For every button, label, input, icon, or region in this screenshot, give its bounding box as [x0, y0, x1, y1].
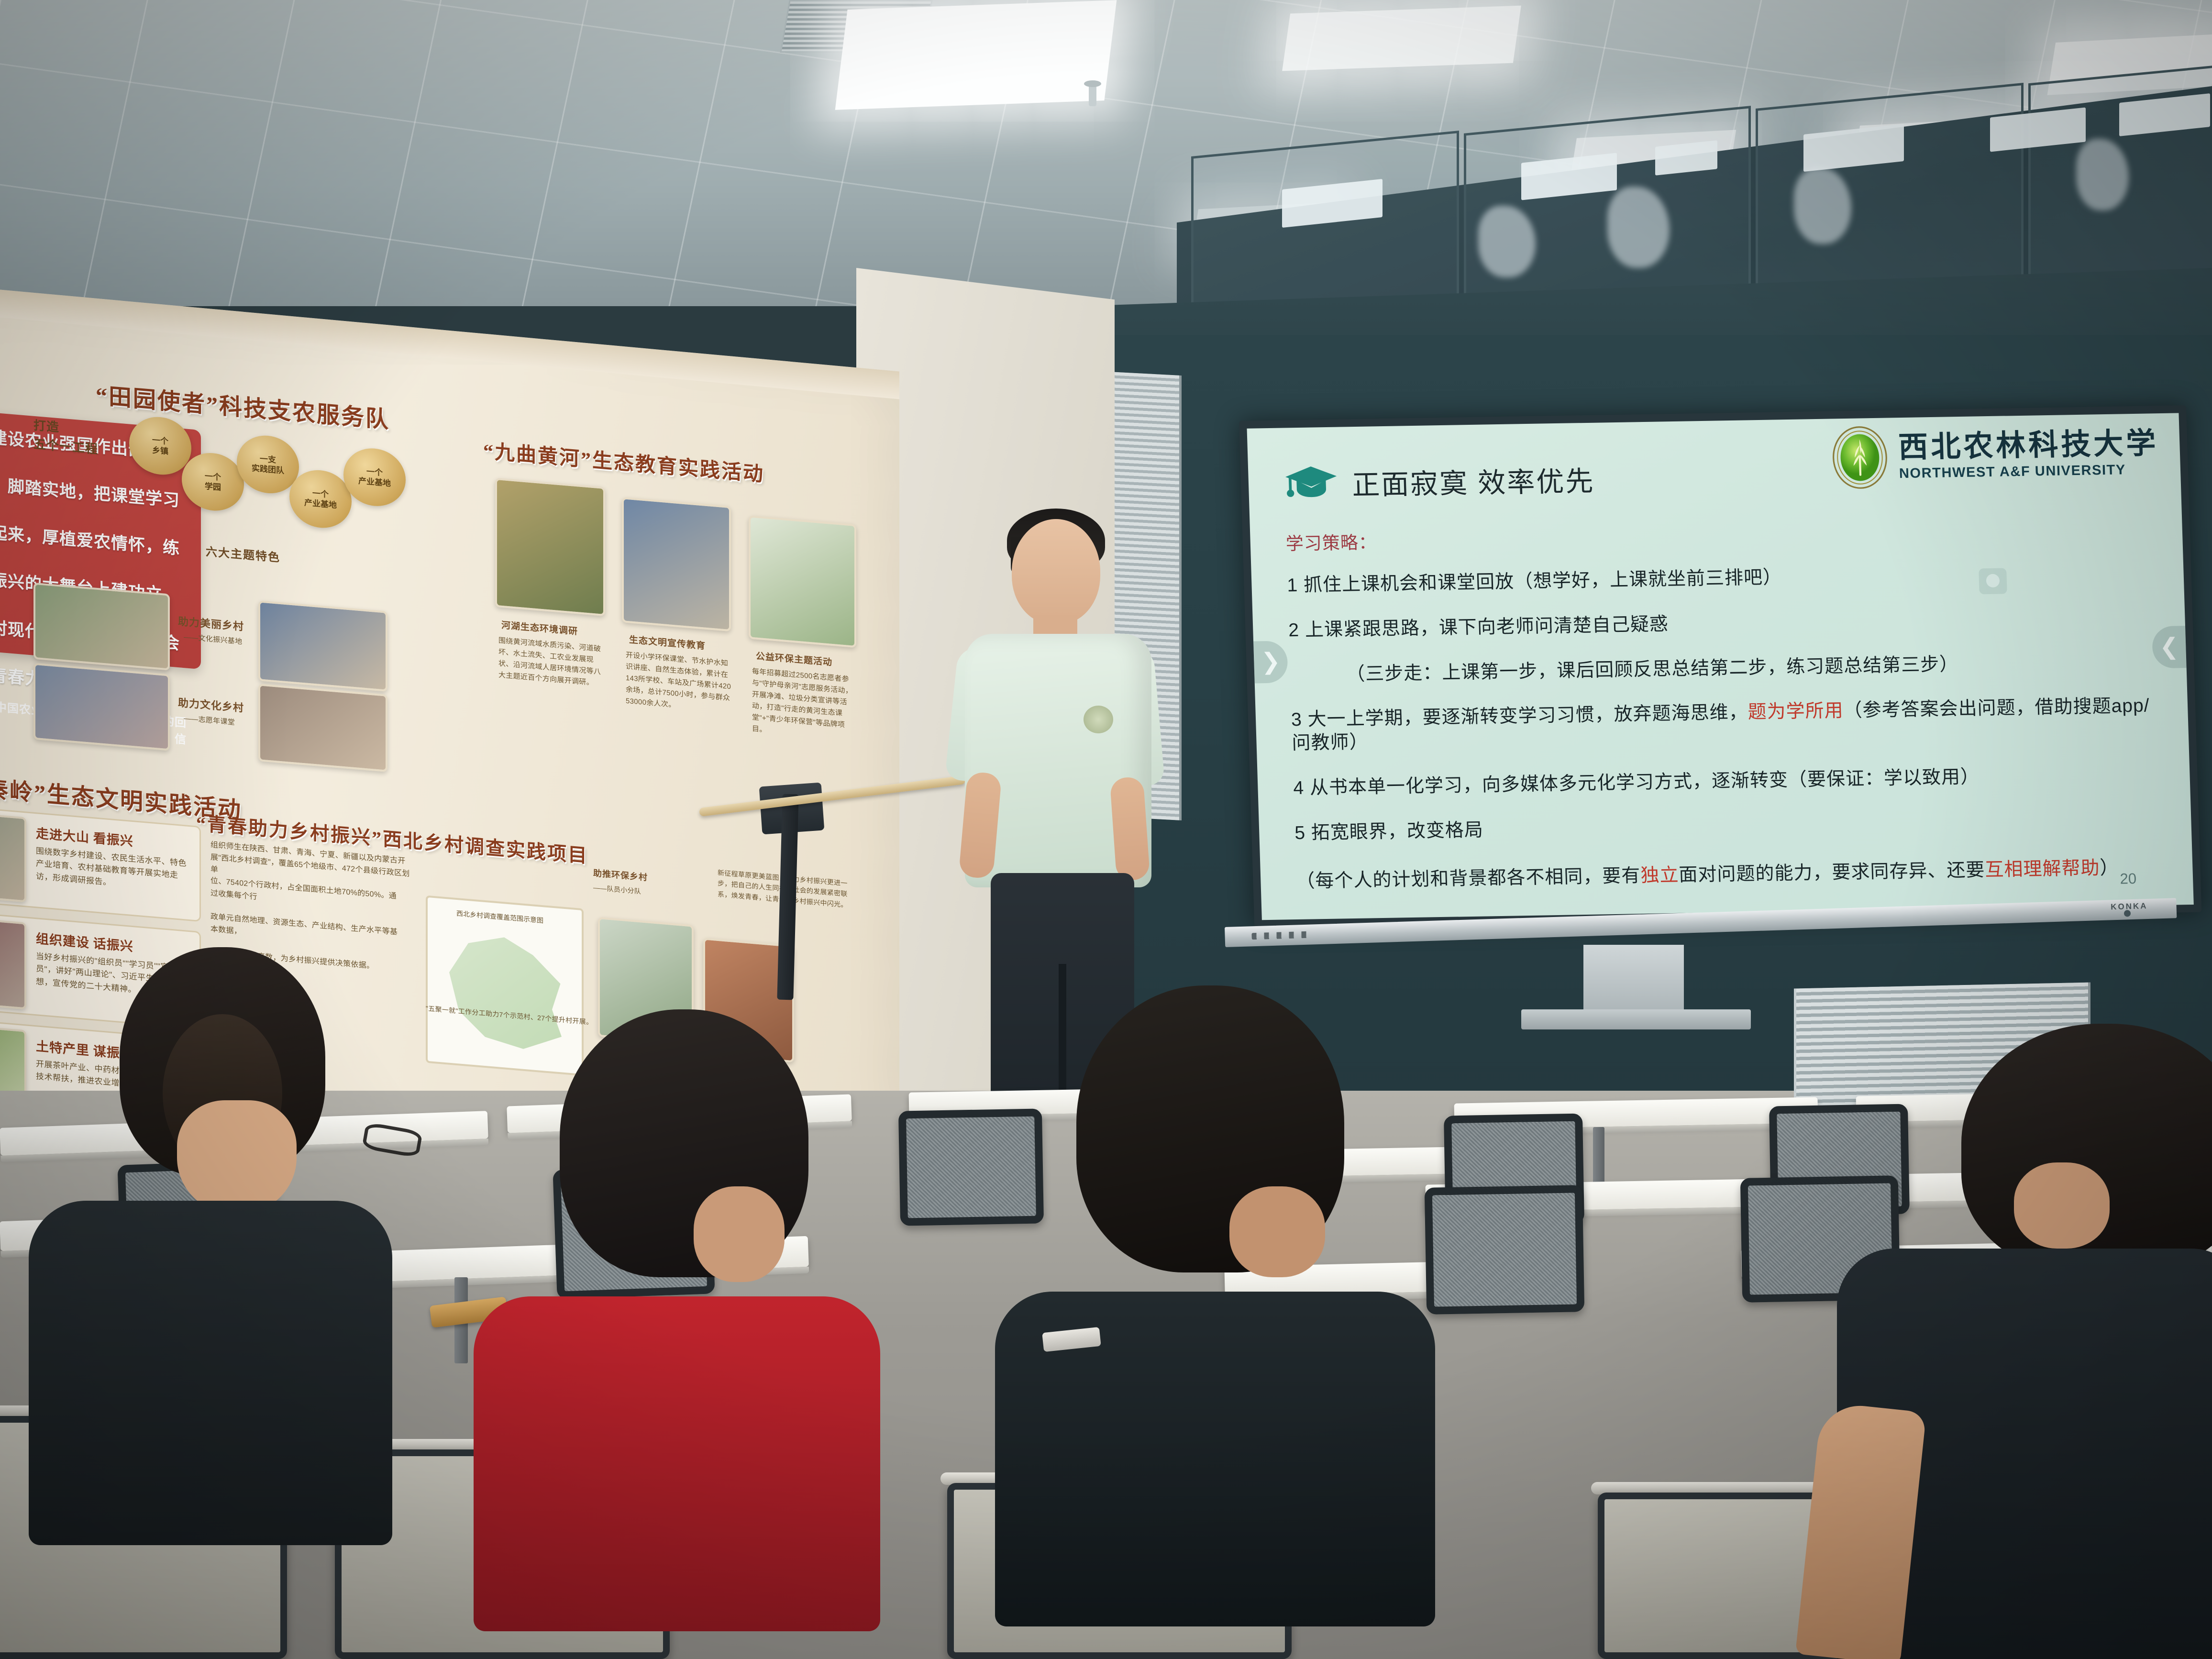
slide-watermark-icon	[1979, 568, 2007, 594]
student-face	[177, 1100, 297, 1215]
right-block-sub: ——队员小分队	[593, 882, 641, 897]
presenter-shirt-graphic	[1084, 706, 1113, 733]
presenter-arm-right	[1110, 776, 1150, 881]
slide-line-7-part-c: ）	[2100, 858, 2119, 879]
slide-line-7-highlight-2: 互相理解帮助	[1985, 858, 2100, 880]
exhibit-photo	[33, 663, 170, 751]
badge-top: 一个	[312, 488, 329, 499]
smart-display-screen[interactable]: 西北农林科技大学 NORTHWEST A&F UNIVERSITY 正面寂寞 效…	[1239, 405, 2201, 928]
slide-line-4-part-a: 3 大一上学期，要逐渐转变学习习惯，放弃题海思维，	[1291, 702, 1748, 730]
exhibit-caption-head: 助力文化乡村	[178, 694, 244, 715]
slide-line-1: 1 抓住上课机会和课堂回放（想学好，上课就坐前三排吧）	[1287, 560, 2161, 597]
university-name-cn: 西北农林科技大学	[1898, 429, 2159, 463]
badge-top: 一个	[205, 471, 221, 483]
display-stand-foot	[1521, 1009, 1751, 1029]
student-red	[488, 1009, 871, 1574]
map-caption: 西北乡村调查覆盖范围示意图	[456, 908, 543, 925]
exhibit-caption-body: ——志愿年课堂	[184, 713, 235, 729]
student-center-dark	[1024, 985, 1416, 1583]
badge-bottom: 实践团队	[252, 463, 284, 476]
display-stand-column	[1583, 945, 1684, 1017]
badge-top: 一支	[260, 453, 276, 465]
badge-bottom: 学园	[205, 481, 221, 493]
slide-title: 正面寂寞 效率优先	[1351, 459, 1595, 503]
gold-circle-badge: 一支 实践团队	[237, 433, 299, 496]
jiuqu-col-body: 每年招募超过2500名志愿者参与"守护母亲河"志愿服务活动，开展净滩、垃圾分类宣…	[752, 666, 858, 744]
graduation-cap-icon	[1283, 463, 1340, 505]
exhibit-photo	[495, 478, 605, 616]
right-block-head: 助推环保乡村	[593, 866, 648, 884]
strategy-label: 学习策略：	[1285, 515, 2160, 555]
jiuqu-col-body: 围绕黄河流域水质污染、河道破坏、水土流失、工农业发展现状、沿河流域人居环境情况等…	[498, 635, 606, 690]
badge-bottom: 产业基地	[304, 498, 337, 510]
qingchun-body: 政单元自然地理、资源生态、产业结构、生产水平等基本数据，	[210, 911, 402, 951]
slide-line-5: 4 从书本单一化学习，向多媒体多元化学习方式，逐渐转变（要保证：学以致用）	[1293, 763, 2167, 800]
exhibit-photo	[0, 808, 26, 903]
exhibit-heading-jiuqu: “九曲黄河”生态教育实践活动	[483, 435, 764, 487]
slide-line-7-highlight-1: 独立	[1640, 865, 1679, 886]
jiuqu-col-head: 河湖生态环境调研	[501, 618, 578, 637]
badge-top: 一个	[152, 435, 168, 446]
gold-circle-badge: 一个 产业基地	[343, 446, 406, 509]
jiuqu-col-head: 生态文明宣传教育	[629, 632, 706, 652]
desk-leg	[1593, 1127, 1604, 1189]
university-name-en: NORTHWEST A&F UNIVERSITY	[1899, 463, 2160, 481]
slide-line-3-parenthetical: （三步走：上课第一步，课后回顾反思总结第二步，练习题总结第三步）	[1346, 649, 2164, 686]
exhibit-photo	[622, 497, 731, 631]
presenter-head	[1012, 519, 1100, 624]
student-shirt	[474, 1296, 880, 1631]
exhibit-photo	[749, 515, 856, 648]
university-emblem-icon	[1831, 425, 1889, 491]
display-power-indicator	[2124, 910, 2131, 917]
student-ear-neck	[694, 1186, 785, 1282]
badge-bottom: 乡镇	[152, 445, 168, 457]
slide-line-4: 3 大一上学期，要逐渐转变学习习惯，放弃题海思维，题为学所用（参考答案会出问题，…	[1291, 694, 2166, 755]
student-neck	[1229, 1186, 1325, 1277]
student-right	[1808, 1024, 2212, 1659]
tianyuan-left-tag: 打造五个一工程	[33, 416, 98, 459]
student-ear	[2014, 1162, 2110, 1249]
gold-circle-badge: 一个 产业基地	[289, 468, 352, 531]
slide-line-6: 5 拓宽眼界，改变格局	[1294, 807, 2168, 845]
slide-line-4-highlight: 题为学所用	[1747, 700, 1844, 722]
classroom-chair	[898, 1108, 1044, 1226]
jiuqu-col-body: 开设小学环保课堂、节水护水知识讲座、自然生态体验，累计在143所学校、车站及广场…	[626, 650, 732, 716]
exhibit-photo	[258, 600, 387, 692]
jiuqu-col-head: 公益环保主题活动	[756, 649, 832, 668]
classroom-chair	[1425, 1185, 1585, 1315]
slide-line-7-part-a: （每个人的计划和背景都各不相同，要有	[1296, 865, 1641, 892]
presentation-slide[interactable]: 西北农林科技大学 NORTHWEST A&F UNIVERSITY 正面寂寞 效…	[1247, 413, 2193, 920]
slide-line-7: （每个人的计划和背景都各不相同，要有独立面对问题的能力，要求同存异、还要互相理解…	[1295, 852, 2170, 893]
classroom-scene: 党的二十大对建设农业强国作出部署，希望同 学们志存高远、脚踏实地，把课堂学习和乡…	[0, 0, 2212, 1659]
slide-line-7-part-b: 面对问题的能力，要求同存异、还要	[1679, 860, 1985, 885]
ceiling-panel-light	[1282, 6, 1521, 71]
tianyuan-subcaption: 六大主题特色	[206, 542, 280, 565]
student-front-left	[19, 947, 392, 1545]
ceiling-panel-light	[835, 0, 1117, 110]
university-logo: 西北农林科技大学 NORTHWEST A&F UNIVERSITY	[1831, 420, 2160, 490]
exhibit-photo	[33, 583, 170, 671]
badge-top: 一个	[366, 466, 383, 478]
fire-sprinkler-head	[1089, 84, 1096, 106]
student-shirt	[29, 1201, 392, 1545]
exhibit-photo	[258, 684, 387, 772]
slide-line-2: 2 上课紧跟思路，课下向老师问清楚自己疑惑	[1288, 605, 2162, 642]
badge-bottom: 产业基地	[358, 476, 391, 489]
slide-page-number: 20	[2120, 870, 2137, 888]
display-control-buttons[interactable]	[1251, 931, 1309, 940]
